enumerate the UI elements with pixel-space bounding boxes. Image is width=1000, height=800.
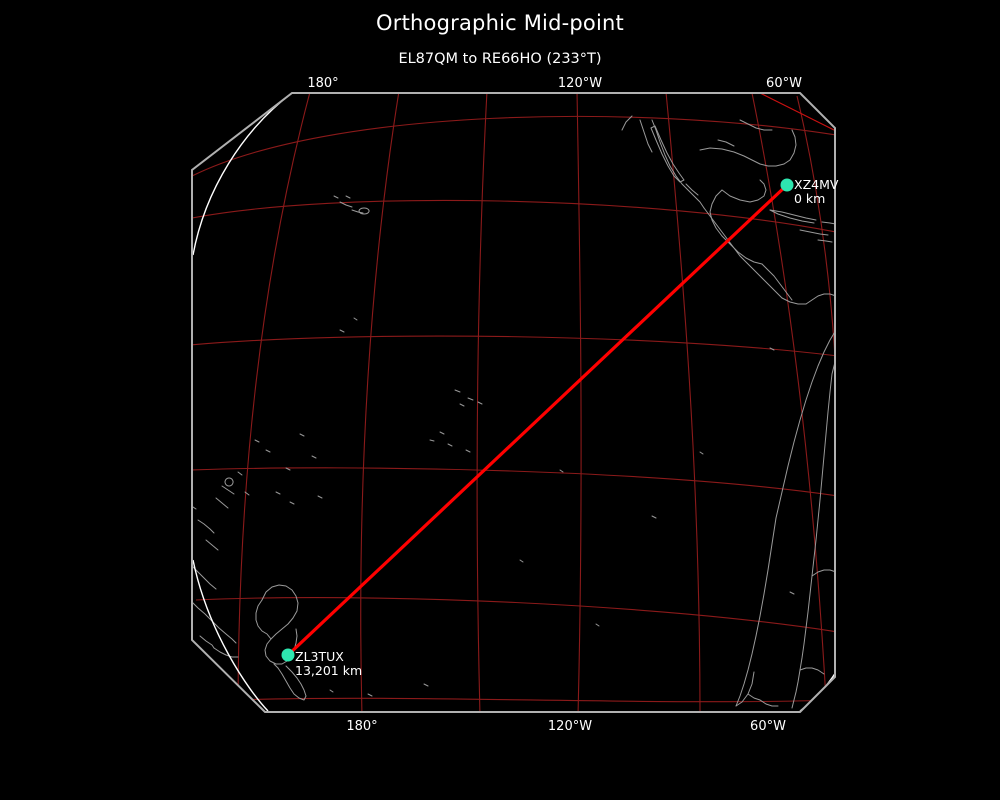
globe-limb (193, 93, 836, 711)
figure-canvas: Orthographic Mid-point EL87QM to RE66HO … (0, 0, 1000, 800)
endpoint-distance-destination: 13,201 km (295, 664, 362, 678)
endpoint-callsign-destination: ZL3TUX (295, 650, 362, 664)
graticule-parallels (190, 116, 838, 701)
endpoint-distance-origin: 0 km (794, 192, 838, 206)
orthographic-map[interactable] (0, 0, 1000, 800)
endpoint-marker-origin[interactable] (781, 179, 794, 192)
endpoint-label-origin: XZ4MV 0 km (794, 178, 838, 205)
endpoint-marker-destination[interactable] (282, 649, 295, 662)
great-circle-path (288, 185, 787, 655)
endpoint-callsign-origin: XZ4MV (794, 178, 838, 192)
endpoint-label-destination: ZL3TUX 13,201 km (295, 650, 362, 677)
graticule-meridians (238, 91, 838, 716)
